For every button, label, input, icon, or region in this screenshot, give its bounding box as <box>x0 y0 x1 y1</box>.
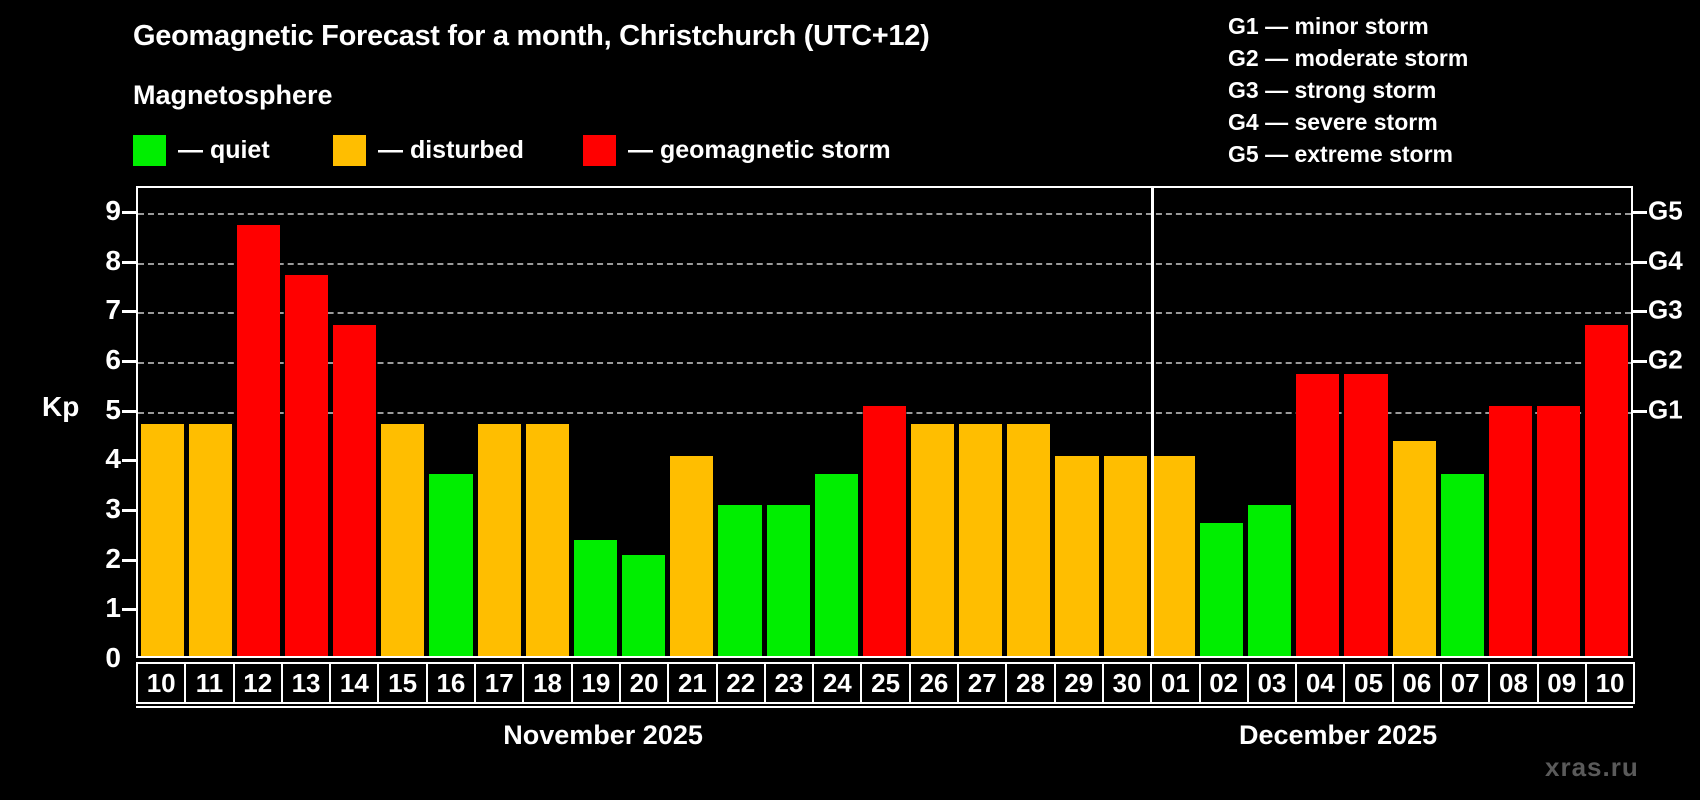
bar-24-quiet <box>815 474 858 656</box>
bar-19-quiet <box>574 540 617 656</box>
bar-cell <box>571 188 619 656</box>
g-tick-mark-G1 <box>1633 410 1647 413</box>
g-tick-mark-G3 <box>1633 310 1647 313</box>
y-tick-label-7: 7 <box>61 294 121 326</box>
legend-item-disturbed: — disturbed <box>333 134 524 166</box>
bar-cell <box>1342 188 1390 656</box>
bar-cell <box>523 188 571 656</box>
bar-cell <box>475 188 523 656</box>
legend-swatch-quiet-icon <box>133 135 166 166</box>
bar-12-storm <box>237 225 280 656</box>
bar-27-disturbed <box>959 424 1002 656</box>
bar-cell <box>1197 188 1245 656</box>
y-tick-mark-3 <box>122 509 136 512</box>
day-label-10: 10 <box>136 662 186 704</box>
bar-06-disturbed <box>1393 441 1436 656</box>
y-tick-mark-7 <box>122 310 136 313</box>
bar-17-disturbed <box>478 424 521 656</box>
bar-cell <box>957 188 1005 656</box>
bar-21-disturbed <box>670 456 713 656</box>
day-label-19: 19 <box>571 662 621 704</box>
page-title: Geomagnetic Forecast for a month, Christ… <box>133 20 929 53</box>
bar-08-storm <box>1489 406 1532 656</box>
y-tick-label-1: 1 <box>61 592 121 624</box>
y-tick-label-3: 3 <box>61 493 121 525</box>
y-tick-mark-4 <box>122 459 136 462</box>
day-label-17: 17 <box>474 662 524 704</box>
legend-heading: Magnetosphere <box>133 80 333 111</box>
legend-swatch-disturbed-icon <box>333 135 366 166</box>
bar-26-disturbed <box>911 424 954 656</box>
day-label-15: 15 <box>377 662 427 704</box>
bar-01-disturbed <box>1152 456 1195 656</box>
bar-cell <box>812 188 860 656</box>
bar-cell <box>1149 188 1197 656</box>
bar-cell <box>282 188 330 656</box>
bar-cell <box>331 188 379 656</box>
day-label-01: 01 <box>1150 662 1200 704</box>
day-label-28: 28 <box>1005 662 1055 704</box>
y-tick-label-8: 8 <box>61 245 121 277</box>
day-label-18: 18 <box>522 662 572 704</box>
day-label-27: 27 <box>957 662 1007 704</box>
y-tick-mark-2 <box>122 559 136 562</box>
legend-swatch-storm-icon <box>583 135 616 166</box>
y-tick-mark-5 <box>122 410 136 413</box>
g-tick-label-G2: G2 <box>1648 344 1683 375</box>
bar-series <box>138 188 1631 656</box>
bar-22-quiet <box>718 505 761 656</box>
day-label-11: 11 <box>184 662 234 704</box>
day-label-09: 09 <box>1537 662 1587 704</box>
bar-cell <box>1390 188 1438 656</box>
bar-cell <box>1486 188 1534 656</box>
bar-14-storm <box>333 325 376 656</box>
g-tick-mark-G5 <box>1633 211 1647 214</box>
bar-10-disturbed <box>141 424 184 656</box>
bar-cell <box>1246 188 1294 656</box>
g-legend-line-1: G1 — minor storm <box>1228 10 1468 42</box>
g-tick-label-G4: G4 <box>1648 245 1683 276</box>
bar-cell <box>860 188 908 656</box>
bar-20-quiet <box>622 555 665 656</box>
day-label-04: 04 <box>1295 662 1345 704</box>
day-label-23: 23 <box>764 662 814 704</box>
plot-area <box>136 186 1633 658</box>
bar-09-storm <box>1537 406 1580 656</box>
bar-cell <box>1294 188 1342 656</box>
day-label-07: 07 <box>1440 662 1490 704</box>
bar-cell <box>234 188 282 656</box>
day-label-13: 13 <box>281 662 331 704</box>
bar-16-quiet <box>429 474 472 656</box>
bar-cell <box>620 188 668 656</box>
bar-cell <box>1005 188 1053 656</box>
day-label-21: 21 <box>667 662 717 704</box>
y-tick-label-0: 0 <box>61 642 121 674</box>
g-legend-line-4: G4 — severe storm <box>1228 106 1468 138</box>
bar-04-storm <box>1296 374 1339 656</box>
bar-cell <box>1535 188 1583 656</box>
legend-label-quiet: — quiet <box>178 136 270 165</box>
day-label-08: 08 <box>1488 662 1538 704</box>
bar-cell <box>668 188 716 656</box>
chart-canvas: Geomagnetic Forecast for a month, Christ… <box>0 0 1700 800</box>
bar-13-storm <box>285 275 328 656</box>
day-label-05: 05 <box>1343 662 1393 704</box>
g-tick-label-G5: G5 <box>1648 195 1683 226</box>
legend-label-disturbed: — disturbed <box>378 136 524 165</box>
bar-02-quiet <box>1200 523 1243 656</box>
day-label-16: 16 <box>426 662 476 704</box>
y-tick-label-2: 2 <box>61 543 121 575</box>
bar-cell <box>186 188 234 656</box>
day-axis-labels: 1011121314151617181920212223242526272829… <box>136 662 1633 704</box>
g-legend-line-2: G2 — moderate storm <box>1228 42 1468 74</box>
bar-30-disturbed <box>1104 456 1147 656</box>
day-label-10: 10 <box>1585 662 1635 704</box>
day-label-30: 30 <box>1102 662 1152 704</box>
y-tick-mark-1 <box>122 608 136 611</box>
day-label-24: 24 <box>812 662 862 704</box>
g-tick-label-G1: G1 <box>1648 394 1683 425</box>
legend-item-quiet: — quiet <box>133 134 270 166</box>
day-label-02: 02 <box>1199 662 1249 704</box>
bar-29-disturbed <box>1055 456 1098 656</box>
day-label-03: 03 <box>1247 662 1297 704</box>
bar-cell <box>1053 188 1101 656</box>
bar-03-quiet <box>1248 505 1291 656</box>
y-tick-label-5: 5 <box>61 394 121 426</box>
month-label: December 2025 <box>1239 720 1437 751</box>
bar-cell <box>764 188 812 656</box>
g-tick-label-G3: G3 <box>1648 295 1683 326</box>
bar-11-disturbed <box>189 424 232 656</box>
y-tick-mark-9 <box>122 211 136 214</box>
legend-item-storm: — geomagnetic storm <box>583 134 891 166</box>
month-separator <box>1151 188 1154 656</box>
y-tick-mark-8 <box>122 261 136 264</box>
y-tick-mark-6 <box>122 360 136 363</box>
day-label-06: 06 <box>1392 662 1442 704</box>
g-tick-mark-G2 <box>1633 360 1647 363</box>
bar-05-storm <box>1344 374 1387 656</box>
g-tick-mark-G4 <box>1633 261 1647 264</box>
day-label-22: 22 <box>716 662 766 704</box>
day-label-26: 26 <box>909 662 959 704</box>
bar-cell <box>716 188 764 656</box>
day-label-12: 12 <box>233 662 283 704</box>
y-tick-label-6: 6 <box>61 344 121 376</box>
bar-23-quiet <box>767 505 810 656</box>
bar-10-storm <box>1585 325 1628 656</box>
bar-25-storm <box>863 406 906 656</box>
y-tick-label-9: 9 <box>61 195 121 227</box>
x-axis-line <box>136 706 1633 708</box>
bar-18-disturbed <box>526 424 569 656</box>
day-label-20: 20 <box>619 662 669 704</box>
bar-cell <box>138 188 186 656</box>
bar-cell <box>1583 188 1631 656</box>
bar-cell <box>1438 188 1486 656</box>
bar-cell <box>427 188 475 656</box>
bar-28-disturbed <box>1007 424 1050 656</box>
bar-07-quiet <box>1441 474 1484 656</box>
legend-label-storm: — geomagnetic storm <box>628 136 891 165</box>
bar-cell <box>379 188 427 656</box>
bar-cell <box>909 188 957 656</box>
bar-15-disturbed <box>381 424 424 656</box>
bar-cell <box>1101 188 1149 656</box>
day-label-29: 29 <box>1054 662 1104 704</box>
day-label-25: 25 <box>860 662 910 704</box>
g-scale-legend: G1 — minor stormG2 — moderate stormG3 — … <box>1228 10 1468 170</box>
watermark: xras.ru <box>1545 752 1639 783</box>
month-label: November 2025 <box>503 720 703 751</box>
g-legend-line-5: G5 — extreme storm <box>1228 138 1468 170</box>
day-label-14: 14 <box>329 662 379 704</box>
y-tick-label-4: 4 <box>61 443 121 475</box>
g-legend-line-3: G3 — strong storm <box>1228 74 1468 106</box>
